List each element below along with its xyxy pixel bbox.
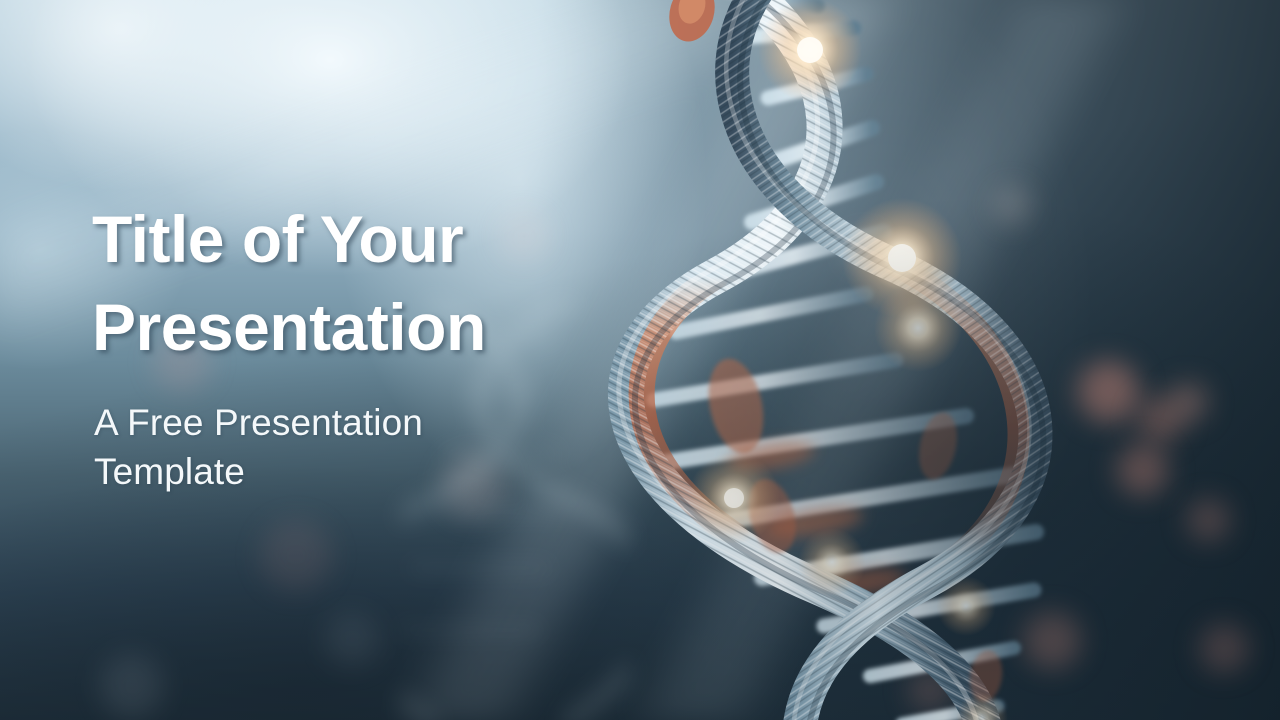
title-text-block: Title of Your Presentation A Free Presen… bbox=[92, 196, 612, 496]
bokeh-disc bbox=[100, 654, 164, 718]
bokeh-disc bbox=[1186, 498, 1230, 542]
bokeh-disc bbox=[1023, 611, 1081, 669]
bokeh-disc bbox=[260, 520, 332, 592]
slide-subtitle: A Free Presentation Template bbox=[94, 398, 474, 496]
bokeh-disc bbox=[1116, 444, 1168, 496]
presentation-title-slide: Title of Your Presentation A Free Presen… bbox=[0, 0, 1280, 720]
bokeh-disc bbox=[1077, 361, 1139, 423]
page-title: Title of Your Presentation bbox=[92, 196, 612, 372]
bokeh-disc bbox=[847, 233, 881, 267]
bokeh-disc bbox=[992, 186, 1032, 226]
bokeh-disc bbox=[908, 668, 952, 712]
bokeh-disc bbox=[1199, 623, 1249, 673]
bokeh-disc bbox=[1137, 397, 1183, 443]
bokeh-disc bbox=[1168, 382, 1208, 422]
bokeh-disc bbox=[325, 613, 379, 667]
dna-double-helix-illustration bbox=[566, 0, 1186, 720]
